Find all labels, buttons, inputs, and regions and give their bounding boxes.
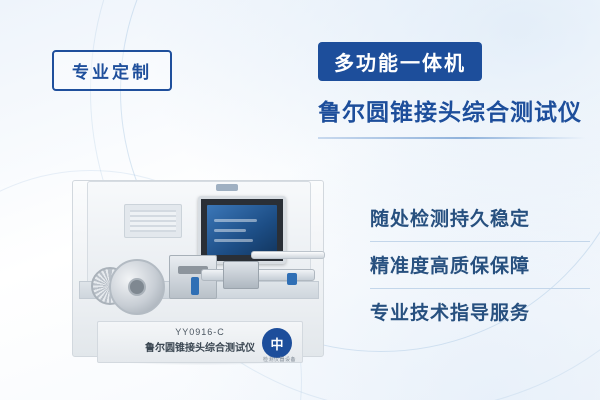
machine-body: YY0916-C 鲁尔圆锥接头综合测试仪 中 检测仪器设备 — [72, 180, 324, 357]
poster-canvas: 专业定制 多功能一体机 鲁尔圆锥接头综合测试仪 随处检测持久稳定 精准度高质保保… — [0, 0, 600, 400]
screen-line-3 — [214, 239, 253, 242]
brand-logo-icon: 中 — [262, 328, 292, 358]
screen-content — [207, 205, 277, 255]
headline-block: 多功能一体机 鲁尔圆锥接头综合测试仪 — [318, 42, 586, 139]
machine-base-plate: YY0916-C 鲁尔圆锥接头综合测试仪 中 检测仪器设备 — [97, 321, 303, 363]
feature-item-1: 随处检测持久稳定 — [370, 195, 590, 242]
feature-list: 随处检测持久稳定 精准度高质保保障 专业技术指导服务 — [370, 195, 590, 335]
product-title: 鲁尔圆锥接头综合测试仪 — [318, 93, 586, 127]
handwheel — [109, 259, 165, 315]
custom-service-badge: 专业定制 — [52, 50, 172, 91]
feature-item-3: 专业技术指导服务 — [370, 289, 590, 335]
brand-caption: 检测仪器设备 — [263, 356, 296, 363]
screen-line-2 — [214, 229, 246, 232]
blue-clip-right — [287, 273, 297, 285]
blue-clip-left — [191, 277, 199, 295]
product-type-pill: 多功能一体机 — [318, 42, 482, 81]
rail-slider — [223, 261, 259, 289]
feature-item-2: 精准度高质保保障 — [370, 242, 590, 289]
machine-vent-grille — [124, 204, 182, 238]
product-photo: YY0916-C 鲁尔圆锥接头综合测试仪 中 检测仪器设备 — [72, 180, 322, 380]
screen-line-1 — [214, 219, 257, 222]
test-rod — [251, 251, 325, 259]
headline-divider — [318, 137, 586, 139]
machine-brand-strip — [216, 184, 238, 191]
